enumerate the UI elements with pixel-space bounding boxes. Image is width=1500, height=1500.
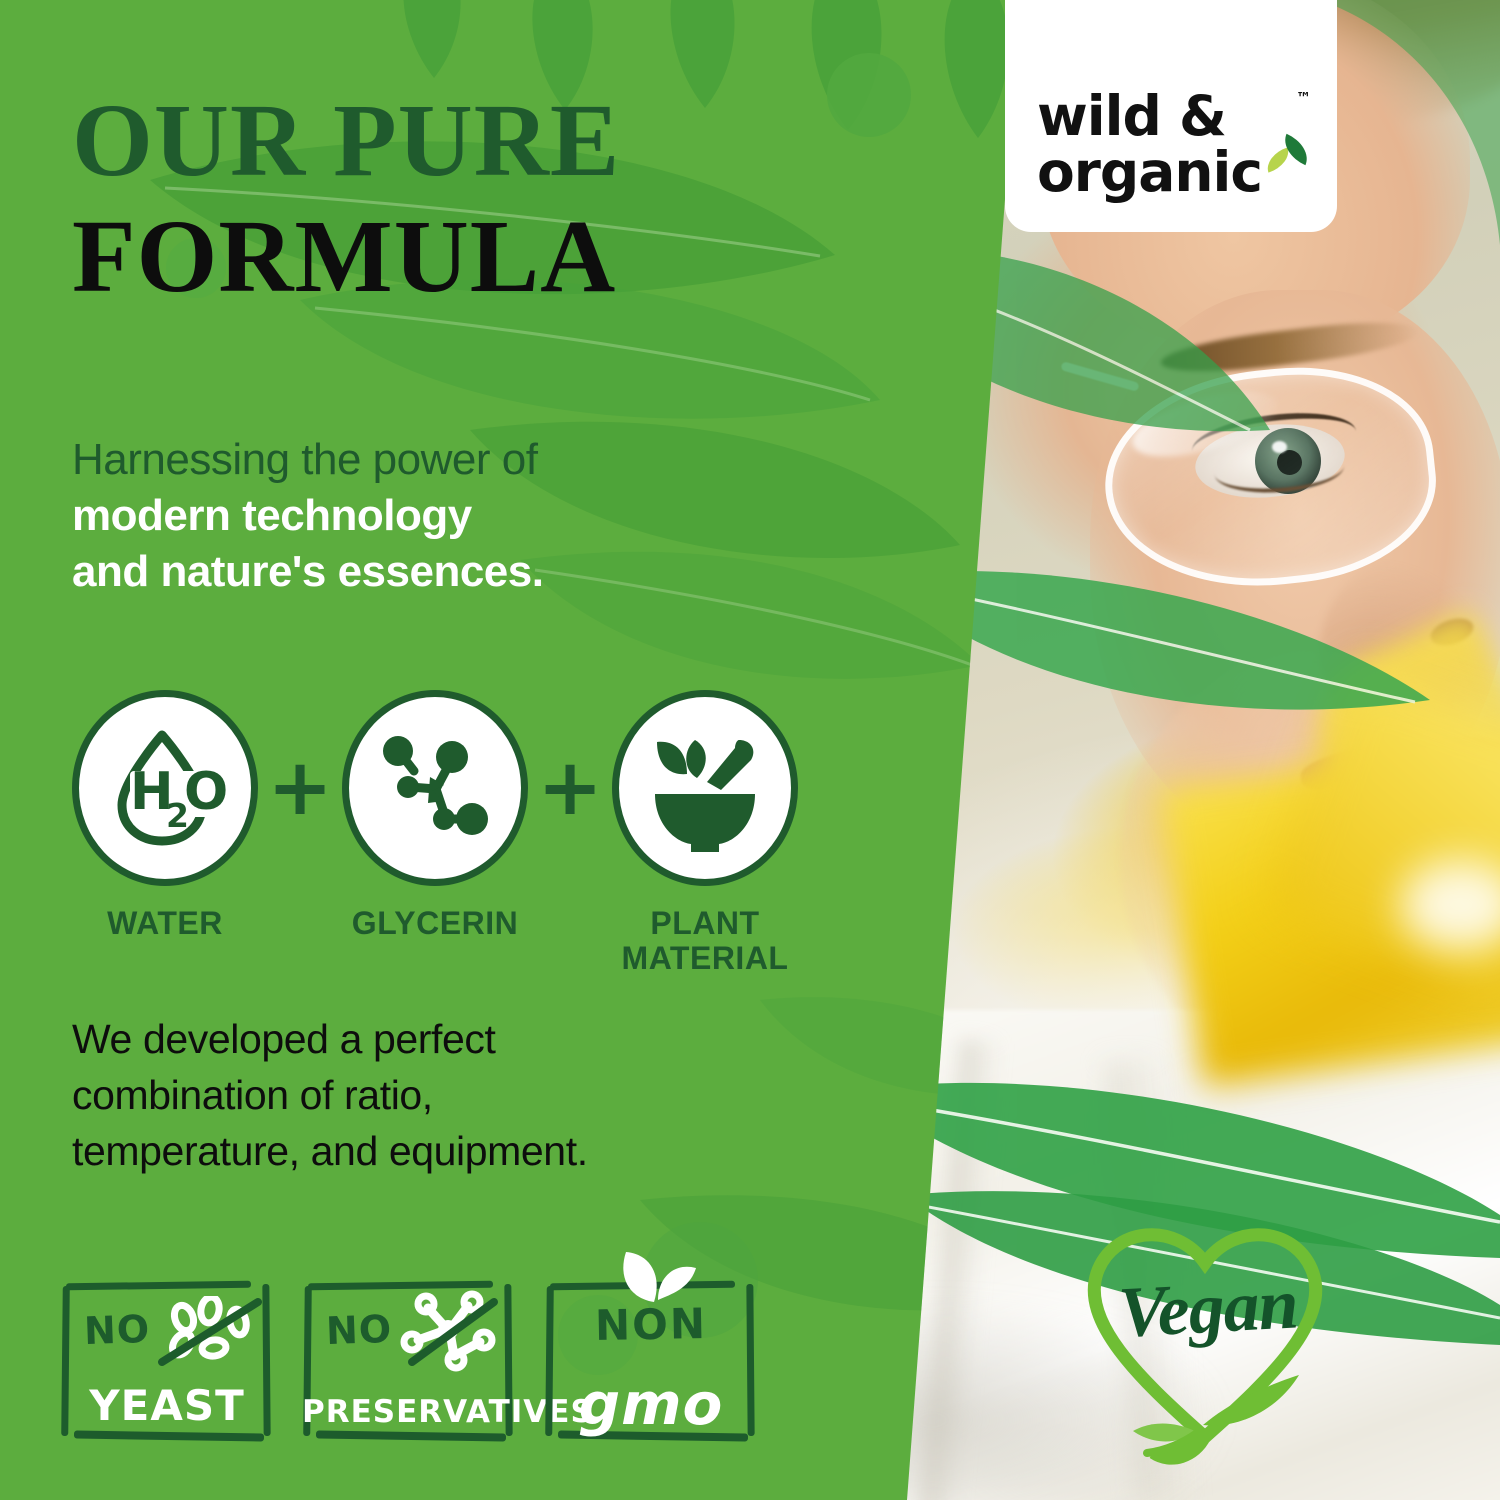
glycerin-molecule-icon <box>370 723 500 853</box>
vegan-label: Vegan <box>1091 1261 1325 1356</box>
svg-text:O: O <box>184 762 228 822</box>
badge-no-preservatives: NO <box>302 1282 516 1442</box>
badge-prefix-no: NO <box>325 1307 393 1353</box>
molecule-crossed-out-icon <box>394 1290 500 1372</box>
badge-prefix-non: NON <box>544 1298 759 1351</box>
claim-badges: NO YEAST NO <box>60 1282 758 1442</box>
plus-operator-2: + <box>528 690 612 886</box>
badge-frame-bottom <box>74 1431 264 1442</box>
brand-logo-badge[interactable]: ™ wild & organic <box>1005 0 1337 232</box>
logo-line-1: wild & <box>1037 91 1305 142</box>
badge-frame-top <box>308 1281 493 1291</box>
logo-lockup: ™ wild & organic <box>1037 91 1305 198</box>
page-title: OUR PURE FORMULA <box>72 88 620 310</box>
ingredient-label-plant-material: PLANT MATERIAL <box>622 906 789 975</box>
yeast-cells-crossed-out-icon <box>158 1296 262 1372</box>
ingredient-water: H 2 O WATER <box>72 690 258 941</box>
plant-label-line-1: PLANT <box>650 905 759 941</box>
badge-prefix-no: NO <box>83 1307 151 1353</box>
water-drop-h2o-icon: H 2 O <box>100 723 230 853</box>
subhead-line-1: Harnessing the power of <box>72 432 772 488</box>
badge-main-preservatives: PRESERVATIVES <box>302 1394 516 1430</box>
subhead-line-3: and nature's essences. <box>72 544 772 600</box>
badge-no-yeast: NO YEAST <box>60 1282 274 1442</box>
badge-frame-bottom <box>316 1431 506 1442</box>
headline-line-1: OUR PURE <box>72 88 620 194</box>
badge-frame-top <box>66 1281 251 1291</box>
badge-non-gmo: NON gmo <box>544 1282 758 1442</box>
logo-line-2: organic <box>1037 147 1305 198</box>
glycerin-icon-circle <box>342 690 528 886</box>
body-line-1: We developed a perfect <box>72 1012 792 1068</box>
ingredient-glycerin: GLYCERIN <box>342 690 528 941</box>
plus-operator-1: + <box>258 690 342 886</box>
ingredient-label-water: WATER <box>107 906 223 941</box>
leaf-pair-icon <box>610 1246 702 1306</box>
infographic-canvas: ™ wild & organic OUR PURE FORMULA Harnes… <box>0 0 1500 1500</box>
mortar-pestle-plant-icon <box>639 722 771 854</box>
trademark-symbol: ™ <box>1296 89 1311 107</box>
vegan-badge: Vegan <box>1055 1225 1355 1475</box>
body-line-3: temperature, and equipment. <box>72 1124 792 1180</box>
subhead-line-2: modern technology <box>72 488 772 544</box>
ingredient-plant-material: PLANT MATERIAL <box>612 690 798 975</box>
body-line-2: combination of ratio, <box>72 1068 792 1124</box>
subheadline: Harnessing the power of modern technolog… <box>72 432 772 600</box>
plant-material-icon-circle <box>612 690 798 886</box>
ingredient-list: H 2 O WATER + <box>72 690 798 975</box>
badge-main-gmo: gmo <box>544 1370 758 1438</box>
water-icon-circle: H 2 O <box>72 690 258 886</box>
ingredient-label-glycerin: GLYCERIN <box>352 906 518 941</box>
plant-label-line-2: MATERIAL <box>622 940 789 976</box>
headline-line-2: FORMULA <box>72 204 620 310</box>
badge-main-yeast: YEAST <box>60 1381 274 1430</box>
body-copy: We developed a perfect combination of ra… <box>72 1012 792 1179</box>
